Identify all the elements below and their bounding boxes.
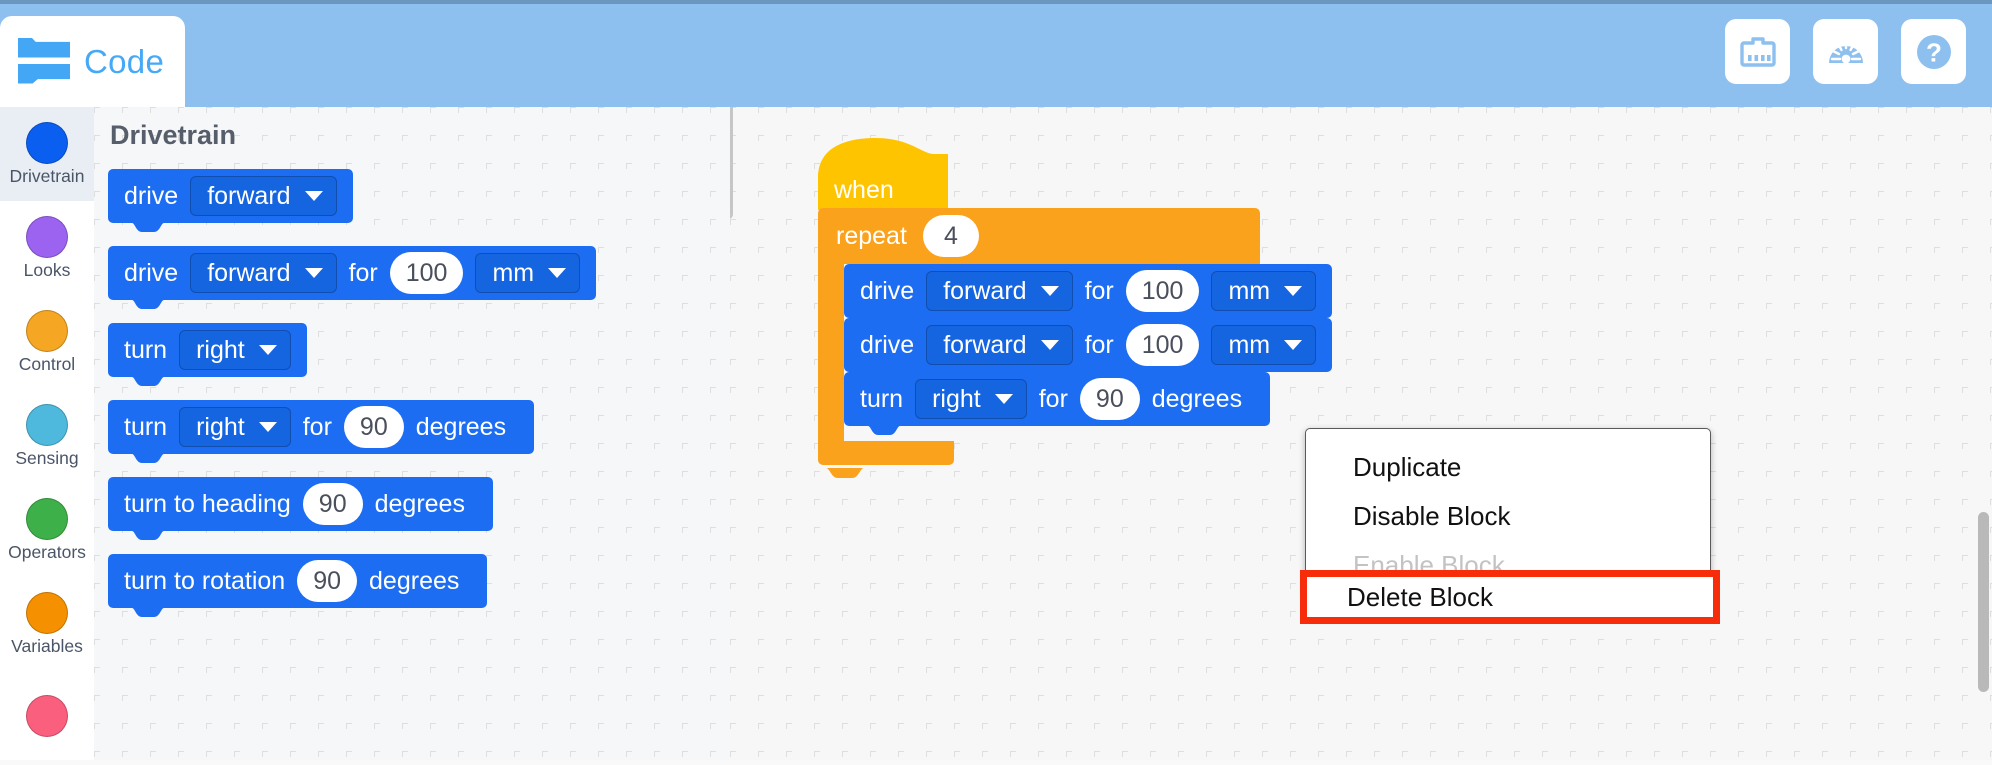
workspace-block-when-started[interactable]: when started <box>818 138 948 211</box>
chevron-down-icon <box>259 345 277 355</box>
turn-direction-dropdown[interactable]: right <box>179 407 291 447</box>
dropdown-value: forward <box>207 182 290 211</box>
context-menu-item-disable-block[interactable]: Disable Block <box>1306 492 1710 541</box>
brain-device-icon[interactable] <box>1725 19 1790 84</box>
toolbar-icons: ? <box>1725 19 1966 84</box>
sidebar-item-control[interactable]: Control <box>0 295 94 389</box>
block-label-for: for <box>337 259 390 288</box>
heading-input[interactable]: 90 <box>303 483 363 525</box>
block-notch-top <box>126 246 170 255</box>
category-color-dot <box>26 592 68 634</box>
block-notch-top <box>126 323 170 332</box>
repeat-foot <box>818 441 954 465</box>
dropdown-value: right <box>196 336 245 365</box>
block-label: drive <box>860 331 926 360</box>
tab-code-label: Code <box>84 43 164 81</box>
block-notch-bottom <box>126 377 170 386</box>
sidebar-item-label: Drivetrain <box>10 168 85 186</box>
sidebar-item-operators[interactable]: Operators <box>0 483 94 577</box>
block-notch-top <box>126 400 170 409</box>
chevron-down-icon <box>305 191 323 201</box>
block-notch-bottom <box>126 223 170 232</box>
dropdown-value: forward <box>207 259 290 288</box>
block-label: turn <box>860 385 915 414</box>
category-color-dot <box>26 122 68 164</box>
category-color-dot <box>26 695 68 737</box>
block-notch-top <box>126 477 170 486</box>
workspace-vertical-scrollbar[interactable] <box>1978 512 1989 692</box>
repeat-left-spine <box>818 264 844 441</box>
window-edge <box>0 0 1992 4</box>
block-notch-top <box>862 372 906 381</box>
category-color-dot <box>26 404 68 446</box>
sidebar-item-label: Control <box>19 356 75 374</box>
palette-scrollbar[interactable] <box>730 107 733 219</box>
unit-dropdown[interactable]: mm <box>1211 271 1316 311</box>
degrees-input[interactable]: 90 <box>1080 378 1140 420</box>
category-color-dot <box>26 498 68 540</box>
sidebar-item-label: Sensing <box>15 450 78 468</box>
repeat-count-input[interactable]: 4 <box>923 215 979 257</box>
category-sidebar: Drivetrain Looks Control Sensing Operato… <box>0 107 94 760</box>
block-label-for: for <box>1027 385 1080 414</box>
turn-direction-dropdown[interactable]: right <box>179 330 291 370</box>
chevron-down-icon <box>259 422 277 432</box>
unit-dropdown[interactable]: mm <box>1211 325 1316 365</box>
block-label: drive <box>124 182 190 211</box>
block-label: turn to rotation <box>124 567 297 596</box>
sidebar-item-my-blocks[interactable] <box>0 671 94 765</box>
dropdown-value: right <box>196 413 245 442</box>
block-label: turn to heading <box>124 490 303 519</box>
dropdown-value: right <box>932 385 981 414</box>
degrees-input[interactable]: 90 <box>344 406 404 448</box>
block-label: turn <box>124 336 179 365</box>
chevron-down-icon <box>1284 340 1302 350</box>
block-label: drive <box>860 277 926 306</box>
category-color-dot <box>26 310 68 352</box>
block-notch-bottom <box>126 531 170 540</box>
chevron-down-icon <box>548 268 566 278</box>
block-label-degrees: degrees <box>1140 385 1254 414</box>
block-notch-bottom <box>126 300 170 309</box>
direction-dropdown[interactable]: forward <box>926 271 1072 311</box>
sidebar-item-label: Looks <box>24 262 71 280</box>
block-label-degrees: degrees <box>404 413 518 442</box>
block-label: drive <box>124 259 190 288</box>
palette-block-drive-forward-for[interactable]: drive forward for 100 mm <box>108 246 596 300</box>
repeat-foot-notch <box>818 465 888 483</box>
vex-code-blocks-icon <box>18 38 70 86</box>
dashboard-gauge-icon[interactable] <box>1813 19 1878 84</box>
chevron-down-icon <box>1041 340 1059 350</box>
chevron-down-icon <box>1284 286 1302 296</box>
context-menu-item-duplicate[interactable]: Duplicate <box>1306 443 1710 492</box>
block-notch-bottom <box>126 454 170 463</box>
direction-dropdown[interactable]: forward <box>190 176 336 216</box>
rotation-input[interactable]: 90 <box>297 560 357 602</box>
tab-code[interactable]: Code <box>0 16 185 107</box>
block-palette: Drivetrain drive forward drive forward f… <box>94 107 730 760</box>
chevron-down-icon <box>305 268 323 278</box>
distance-input[interactable]: 100 <box>1126 270 1200 312</box>
block-label-degrees: degrees <box>363 490 477 519</box>
palette-heading: Drivetrain <box>110 120 236 151</box>
dropdown-value: forward <box>943 331 1026 360</box>
svg-text:?: ? <box>1926 37 1942 67</box>
workspace-block-turn-1[interactable]: turn right for 90 degrees <box>844 372 1270 426</box>
palette-block-turn-to-heading[interactable]: turn to heading 90 degrees <box>108 477 493 531</box>
chevron-down-icon <box>995 394 1013 404</box>
context-menu-item-delete-block-highlight[interactable]: Delete Block <box>1300 570 1720 624</box>
sidebar-item-sensing[interactable]: Sensing <box>0 389 94 483</box>
block-label-for: for <box>1073 331 1126 360</box>
palette-block-turn-right-for[interactable]: turn right for 90 degrees <box>108 400 534 454</box>
distance-input[interactable]: 100 <box>1126 324 1200 366</box>
block-label-degrees: degrees <box>357 567 471 596</box>
help-question-icon[interactable]: ? <box>1901 19 1966 84</box>
workspace-block-drive-2[interactable]: drive forward for 100 mm <box>844 318 1332 372</box>
sidebar-item-label: Variables <box>11 638 83 656</box>
block-label-for: for <box>1073 277 1126 306</box>
context-menu-item-delete-block[interactable]: Delete Block <box>1307 573 1493 622</box>
block-notch-bottom <box>126 608 170 617</box>
block-notch-top <box>862 264 906 273</box>
top-bar: Code <box>0 0 1992 107</box>
block-notch-top <box>126 554 170 563</box>
dropdown-value: mm <box>1228 331 1270 360</box>
direction-dropdown[interactable]: forward <box>190 253 336 293</box>
block-notch-top <box>862 318 906 327</box>
distance-input[interactable]: 100 <box>390 252 464 294</box>
direction-dropdown[interactable]: forward <box>926 325 1072 365</box>
repeat-label: repeat <box>836 222 907 251</box>
dropdown-value: mm <box>1228 277 1270 306</box>
sidebar-item-label: Operators <box>8 544 86 562</box>
palette-block-turn-to-rotation[interactable]: turn to rotation 90 degrees <box>108 554 487 608</box>
chevron-down-icon <box>1041 286 1059 296</box>
palette-block-drive-forward[interactable]: drive forward <box>108 169 353 223</box>
unit-dropdown[interactable]: mm <box>475 253 580 293</box>
sidebar-item-variables[interactable]: Variables <box>0 577 94 671</box>
category-color-dot <box>26 216 68 258</box>
turn-direction-dropdown[interactable]: right <box>915 379 1027 419</box>
sidebar-item-looks[interactable]: Looks <box>0 201 94 295</box>
block-notch-top <box>126 169 170 178</box>
workspace-block-drive-1[interactable]: drive forward for 100 mm <box>844 264 1332 318</box>
block-notch-bottom <box>862 426 906 435</box>
palette-block-turn-right[interactable]: turn right <box>108 323 307 377</box>
dropdown-value: mm <box>492 259 534 288</box>
block-label-for: for <box>291 413 344 442</box>
block-label: turn <box>124 413 179 442</box>
dropdown-value: forward <box>943 277 1026 306</box>
sidebar-item-drivetrain[interactable]: Drivetrain <box>0 107 94 201</box>
